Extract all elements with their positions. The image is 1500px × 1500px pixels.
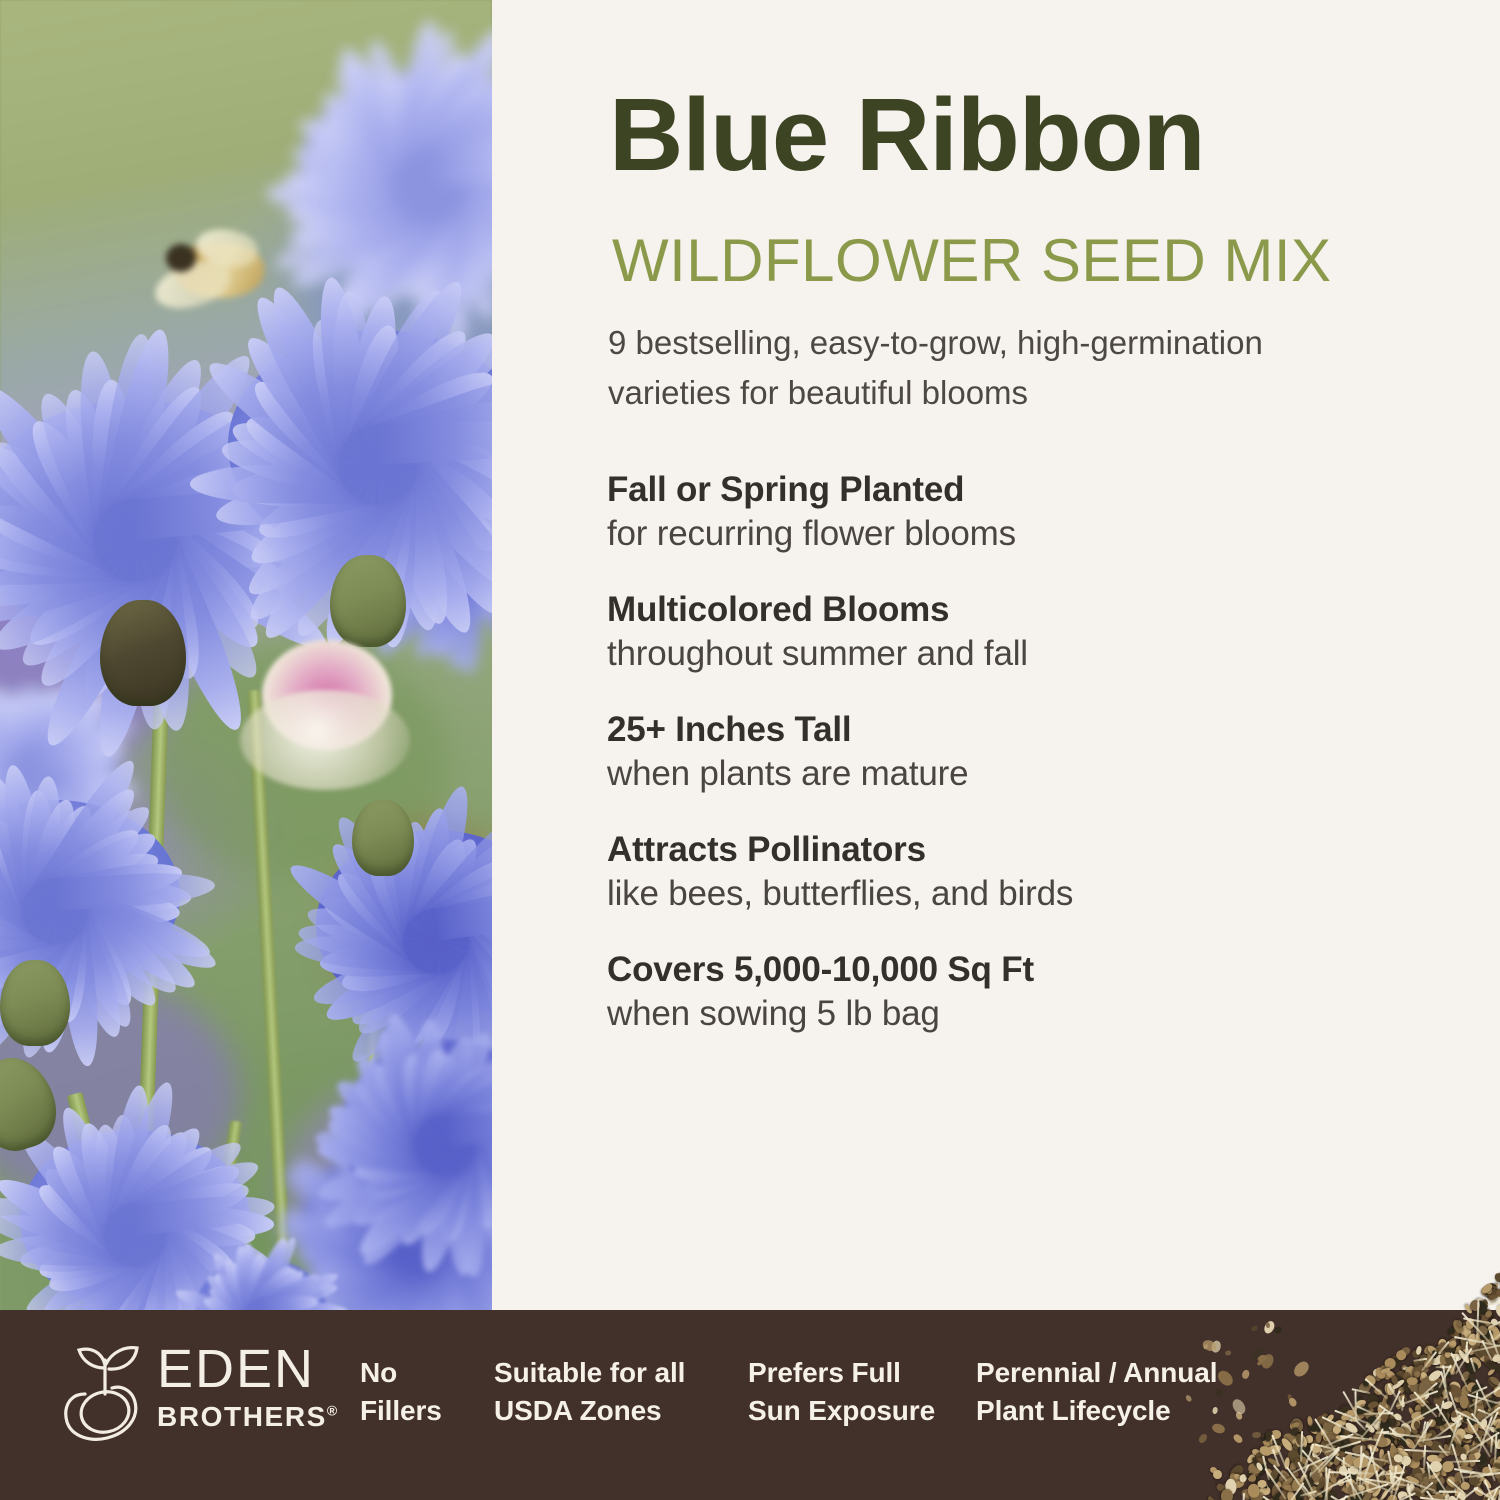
seed	[1494, 1302, 1500, 1320]
flower-petal	[444, 1108, 492, 1145]
seed	[1207, 1495, 1216, 1500]
registered-mark: ®	[327, 1403, 339, 1419]
badge-line-2: USDA Zones	[494, 1392, 685, 1430]
badge-line-2: Plant Lifecycle	[976, 1392, 1217, 1430]
feature-detail: like bees, butterflies, and birds	[607, 872, 1447, 917]
badge-plant-lifecycle: Perennial / Annual Plant Lifecycle	[976, 1354, 1217, 1429]
cornflower-lower	[340, 1040, 492, 1220]
spent-flower-petals	[240, 690, 410, 790]
flower-calyx	[0, 960, 70, 1046]
feature-headline: 25+ Inches Tall	[607, 708, 1447, 752]
seed	[1459, 1394, 1469, 1408]
badge-line-1: Suitable for all	[494, 1354, 685, 1392]
feature-item: Multicolored Blooms throughout summer an…	[607, 588, 1447, 677]
spent-flower	[232, 620, 422, 800]
sprout-seed-icon	[57, 1338, 153, 1444]
flower-calyx	[100, 600, 186, 706]
feature-headline: Attracts Pollinators	[607, 828, 1447, 872]
bee-head	[166, 244, 196, 272]
feature-detail: when sowing 5 lb bag	[607, 992, 1447, 1037]
feature-item: Covers 5,000-10,000 Sq Ft when sowing 5 …	[607, 948, 1447, 1037]
product-photo	[0, 0, 492, 1348]
feature-list: Fall or Spring Planted for recurring flo…	[607, 468, 1447, 1067]
feature-headline: Fall or Spring Planted	[607, 468, 1447, 512]
brand-wordmark: EDEN BROTHERS®	[157, 1342, 347, 1431]
bee	[148, 228, 276, 312]
feature-detail: when plants are mature	[607, 752, 1447, 797]
badge-line-1: Prefers Full	[748, 1354, 935, 1392]
seed-pile	[1200, 1230, 1500, 1500]
page-title: Blue Ribbon	[609, 82, 1489, 187]
brand-subname: BROTHERS®	[157, 1403, 347, 1431]
feature-headline: Multicolored Blooms	[607, 588, 1447, 632]
badge-line-1: No	[360, 1354, 442, 1392]
feature-item: 25+ Inches Tall when plants are mature	[607, 708, 1447, 797]
cornflower-secondary	[228, 330, 492, 560]
badge-no-fillers: No Fillers	[360, 1354, 442, 1429]
flower-calyx	[352, 800, 414, 876]
feature-headline: Covers 5,000-10,000 Sq Ft	[607, 948, 1447, 992]
flower-petal	[376, 418, 492, 465]
product-subtitle: WILDFLOWER SEED MIX	[612, 230, 1492, 292]
feature-detail: for recurring flower blooms	[607, 512, 1447, 557]
seed	[1386, 1399, 1392, 1405]
badge-sun-exposure: Prefers Full Sun Exposure	[748, 1354, 935, 1429]
brand-logo[interactable]: EDEN BROTHERS®	[57, 1336, 285, 1448]
seed-awn	[1423, 1445, 1427, 1469]
seed	[1406, 1377, 1417, 1385]
seed	[1212, 1470, 1221, 1480]
flower-petal	[428, 145, 492, 187]
badge-line-2: Fillers	[360, 1392, 442, 1430]
feature-item: Attracts Pollinators like bees, butterfl…	[607, 828, 1447, 917]
badge-line-2: Sun Exposure	[748, 1392, 935, 1430]
feature-detail: throughout summer and fall	[607, 632, 1447, 677]
seed	[1493, 1272, 1500, 1283]
product-lede: 9 bestselling, easy-to-grow, high-germin…	[608, 318, 1388, 418]
feature-item: Fall or Spring Planted for recurring flo…	[607, 468, 1447, 557]
content-panel: Blue Ribbon WILDFLOWER SEED MIX 9 bestse…	[492, 0, 1500, 1348]
cornflower-blurred	[300, 70, 492, 270]
product-infographic: Blue Ribbon WILDFLOWER SEED MIX 9 bestse…	[0, 0, 1500, 1500]
badge-line-1: Perennial / Annual	[976, 1354, 1217, 1392]
badge-usda-zones: Suitable for all USDA Zones	[494, 1354, 685, 1429]
brand-name: EDEN	[157, 1342, 347, 1396]
